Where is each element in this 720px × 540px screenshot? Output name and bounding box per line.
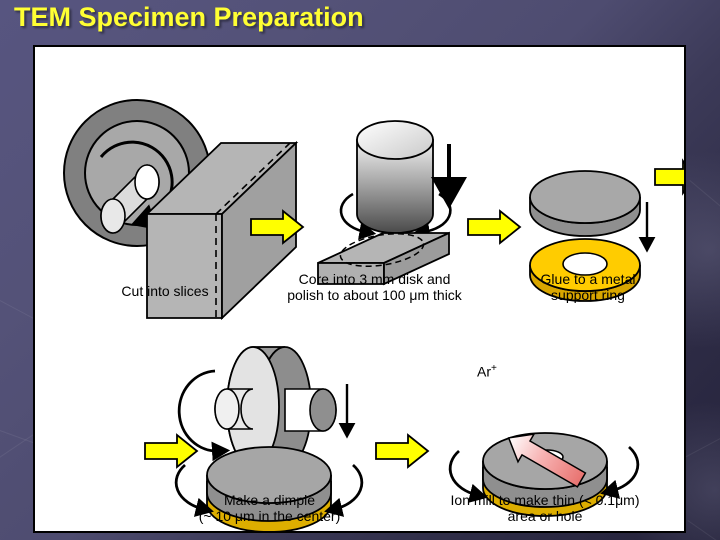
slide: TEM Specimen Preparation xyxy=(0,0,720,540)
ion-species-label: Ar+ xyxy=(477,363,497,380)
core-drill-cylinder xyxy=(357,121,433,233)
background-line-4 xyxy=(689,180,720,258)
caption-step-2: Core into 3 mm disk and polish to about … xyxy=(242,272,507,303)
caption-step-5-line2: area or hole xyxy=(405,509,685,525)
caption-step-4-line2: (~ 10 μm in the center) xyxy=(147,509,392,525)
caption-step-5-line1: Ion mill to make thin (< 0.1μm) xyxy=(405,493,685,509)
caption-step-4-line1: Make a dimple xyxy=(147,493,392,509)
caption-step-1-text: Cut into slices xyxy=(121,283,208,299)
caption-step-2-line2: polish to about 100 μm thick xyxy=(242,288,507,304)
ion-species-symbol: Ar xyxy=(477,364,491,380)
background-line-6 xyxy=(687,520,720,540)
cored-disk xyxy=(530,171,640,236)
flow-arrow-2 xyxy=(468,211,520,243)
page-title: TEM Specimen Preparation xyxy=(14,2,364,33)
caption-step-3: Glue to a metal support ring xyxy=(493,272,683,303)
caption-step-2-line1: Core into 3 mm disk and xyxy=(242,272,507,288)
caption-step-4: Make a dimple (~ 10 μm in the center) xyxy=(147,493,392,524)
caption-step-3-line2: support ring xyxy=(493,288,683,304)
caption-step-1: Cut into slices xyxy=(65,284,265,300)
ion-charge-symbol: + xyxy=(491,363,497,374)
flow-arrow-5 xyxy=(376,435,428,467)
caption-step-3-line1: Glue to a metal xyxy=(493,272,683,288)
dimple-wheel-rotation-arrow xyxy=(179,371,219,451)
flow-arrow-3 xyxy=(655,161,684,193)
diagram-panel: Cut into slices Core into 3 mm disk and … xyxy=(33,45,686,533)
caption-step-5: Ion mill to make thin (< 0.1μm) area or … xyxy=(405,493,685,524)
